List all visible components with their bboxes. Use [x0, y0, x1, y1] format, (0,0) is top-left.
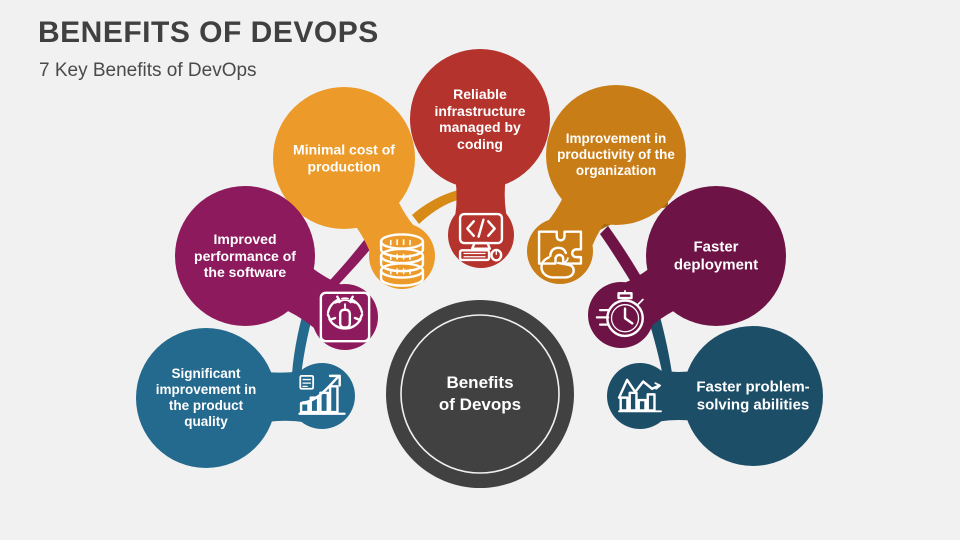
- slide-canvas: BENEFITS OF DEVOPS 7 Key Benefits of Dev…: [0, 0, 960, 540]
- icon-circle-faster-problem-solving[interactable]: [607, 363, 673, 429]
- icon-circle-faster-deployment[interactable]: [588, 282, 654, 348]
- center-hub[interactable]: [386, 300, 574, 488]
- icon-circle-reliable-infrastructure[interactable]: [448, 202, 514, 268]
- benefit-circle-improvement-productivity[interactable]: [546, 85, 686, 225]
- center-circle[interactable]: [386, 300, 574, 488]
- benefit-node-faster-problem-solving[interactable]: [607, 326, 823, 466]
- benefit-circle-faster-problem-solving[interactable]: [683, 326, 823, 466]
- benefits-diagram: [0, 0, 960, 540]
- icon-circle-significant-improvement[interactable]: [289, 363, 355, 429]
- benefit-circle-faster-deployment[interactable]: [646, 186, 786, 326]
- benefit-circle-reliable-infrastructure[interactable]: [410, 49, 550, 189]
- benefit-circle-significant-improvement[interactable]: [136, 328, 276, 468]
- benefit-circle-improved-performance[interactable]: [175, 186, 315, 326]
- benefit-node-significant-improvement[interactable]: [136, 328, 355, 468]
- icon-circle-improvement-productivity[interactable]: [527, 218, 593, 284]
